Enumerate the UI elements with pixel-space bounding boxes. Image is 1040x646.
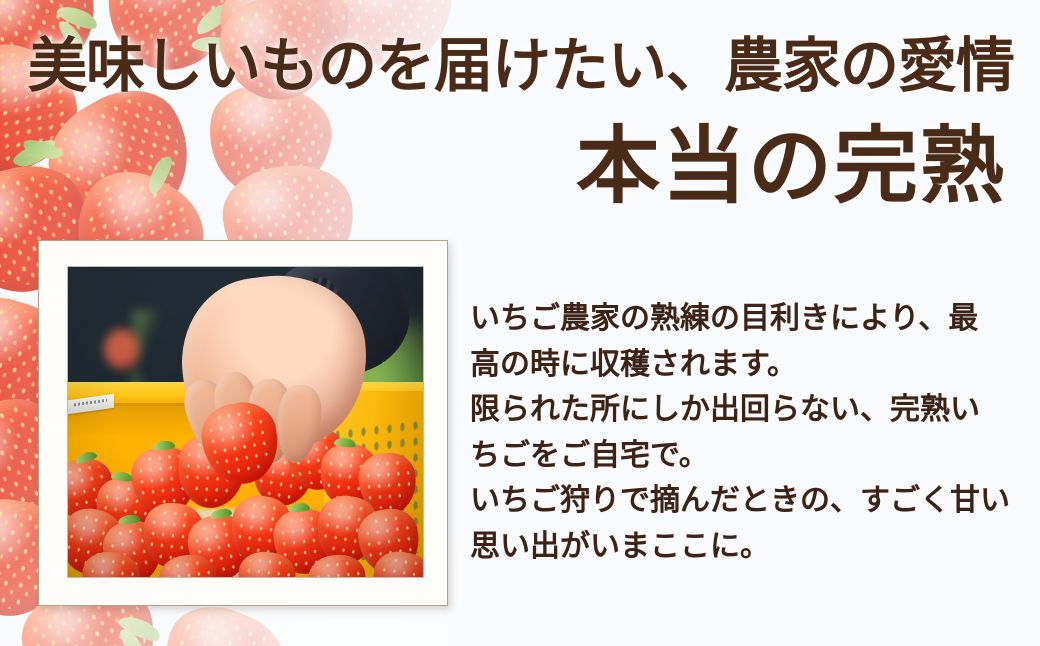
body-line: 思い出がいまここに。 [470,524,1030,570]
harvest-photo [68,267,423,577]
body-copy: いちご農家の熟練の目利きにより、最 高の時に収穫されます。 限られた所にしか出回… [470,296,1030,570]
body-line: 高の時に収穫されます。 [470,342,1030,388]
promo-banner: 美味しいものを届けたい、農家の愛情 本当の完熟 [0,0,1040,646]
body-line: ちごをご自宅で。 [470,433,1030,479]
body-line: いちご狩りで摘んだときの、すごく甘い [470,478,1030,524]
page-title-primary: 美味しいものを届けたい、農家の愛情 [28,36,1014,96]
body-line: 限られた所にしか出回らない、完熟い [470,387,1030,433]
photo-frame [38,240,448,606]
body-line: いちご農家の熟練の目利きにより、最 [470,296,1030,342]
page-title-secondary: 本当の完熟 [576,126,1006,210]
